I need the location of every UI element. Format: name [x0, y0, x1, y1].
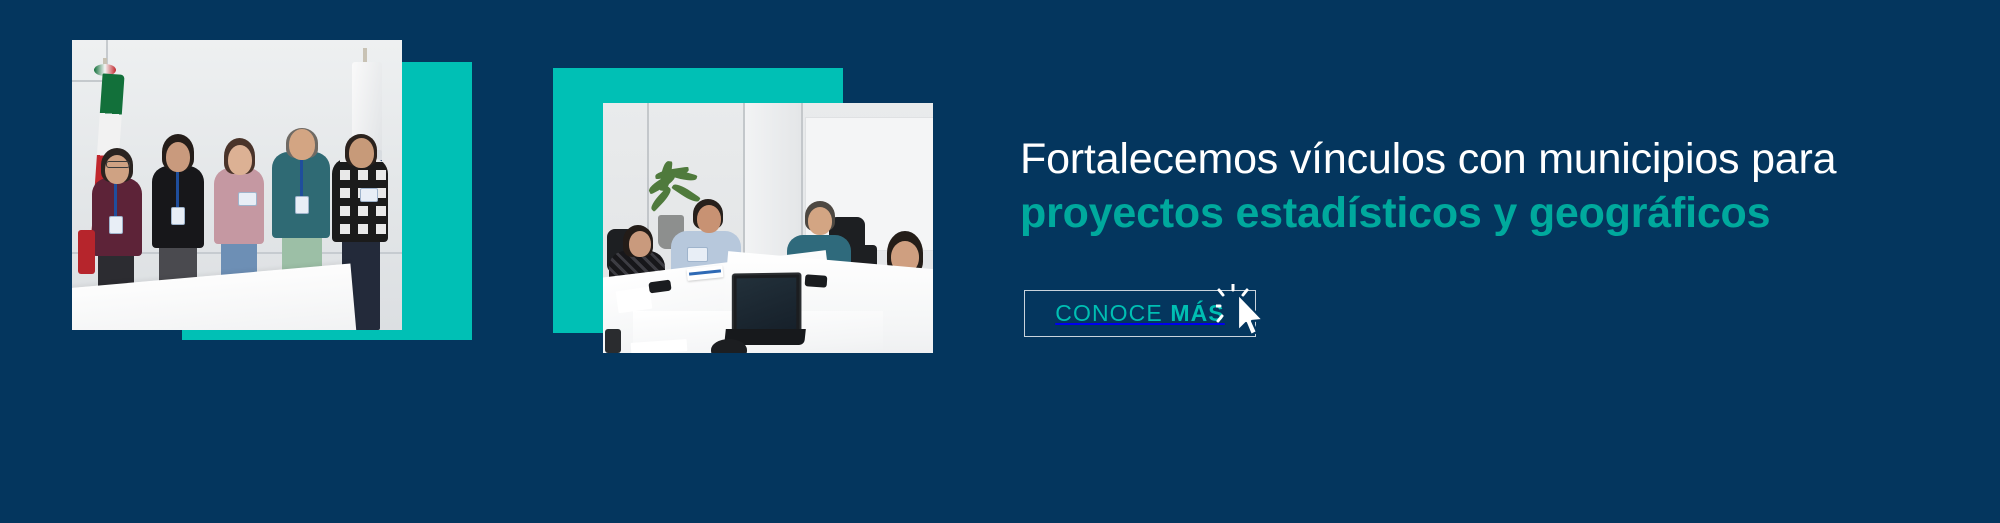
person-head — [697, 205, 721, 233]
id-badge — [109, 216, 123, 234]
person-head — [166, 142, 190, 172]
id-badge — [687, 247, 708, 262]
smartphone — [805, 274, 828, 288]
lanyard — [300, 154, 303, 198]
lanyard — [114, 180, 117, 220]
conoce-mas-label: CONOCE MÁS — [1055, 300, 1224, 327]
photo-group-five — [72, 40, 402, 330]
photo-meeting-room — [603, 103, 933, 353]
person-head — [629, 231, 651, 257]
person-head — [349, 138, 374, 168]
id-badge — [171, 207, 185, 225]
headline: Fortalecemos vínculos con municipios par… — [1020, 132, 1920, 240]
person-head — [105, 155, 129, 184]
person-head — [228, 145, 252, 175]
click-cursor-icon — [1216, 284, 1272, 342]
banner-copy: Fortalecemos vínculos con municipios par… — [1020, 0, 1940, 523]
laptop-display — [737, 278, 797, 331]
bottle — [605, 329, 621, 353]
cta-label-regular: CONOCE — [1055, 300, 1163, 326]
promo-banner: Fortalecemos vínculos con municipios par… — [0, 0, 2000, 523]
photo-block-meeting — [553, 68, 933, 353]
photo-block-group-five — [72, 40, 472, 340]
person-head — [808, 207, 832, 235]
wall-seam — [72, 80, 106, 82]
headline-line-2: proyectos estadísticos y geográficos — [1020, 186, 1920, 240]
headline-line-1: Fortalecemos vínculos con municipios par… — [1020, 132, 1920, 186]
glasses — [106, 161, 130, 168]
notebook — [616, 287, 653, 314]
id-badge — [360, 188, 378, 202]
person-torso — [214, 168, 264, 244]
id-badge — [295, 196, 309, 214]
id-badge — [238, 192, 257, 206]
red-bag — [78, 230, 95, 274]
person-head — [289, 129, 315, 160]
lanyard — [176, 168, 179, 210]
laptop-screen — [732, 272, 802, 335]
